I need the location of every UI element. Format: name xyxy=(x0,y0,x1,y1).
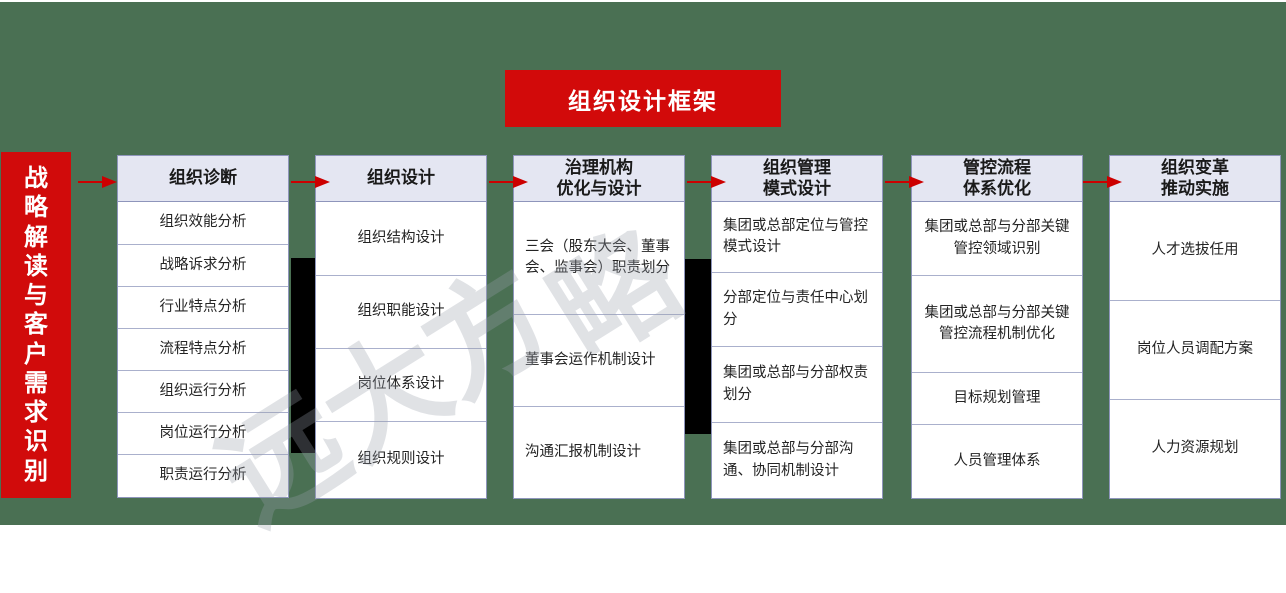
page-title: 组织设计框架 xyxy=(568,82,718,116)
column-header-line-1: 管控流程 xyxy=(963,158,1031,179)
list-item[interactable]: 组织运行分析 xyxy=(118,370,288,412)
diagram-title-banner: 组织设计框架 xyxy=(505,70,781,127)
list-item[interactable]: 职责运行分析 xyxy=(118,454,288,497)
black-connector-block-2 xyxy=(685,259,714,434)
flow-arrow-5 xyxy=(1083,174,1123,190)
left-strategy-bar-label: 战略解读与客户需求识别 xyxy=(21,164,51,486)
column-org-design[interactable]: 组织设计 组织结构设计 组织职能设计 岗位体系设计 组织规则设计 xyxy=(315,155,487,499)
column-body-change-implementation: 人才选拔任用 岗位人员调配方案 人力资源规划 xyxy=(1109,202,1281,499)
column-header-org-diagnosis: 组织诊断 xyxy=(117,155,289,202)
column-body-org-diagnosis: 组织效能分析 战略诉求分析 行业特点分析 流程特点分析 组织运行分析 岗位运行分… xyxy=(117,202,289,498)
list-item[interactable]: 人员管理体系 xyxy=(912,424,1082,498)
diagram-canvas: 远大方 略 组织设计框架 战略解读与客户需求识别 组织诊断 组织效能分析 战略诉… xyxy=(0,0,1286,593)
list-item[interactable]: 分部定位与责任中心划分 xyxy=(712,272,882,346)
list-item[interactable]: 组织效能分析 xyxy=(118,202,288,244)
column-header-label: 组织设计 xyxy=(367,168,435,189)
list-item[interactable]: 战略诉求分析 xyxy=(118,244,288,286)
list-item[interactable]: 集团或总部与分部权责划分 xyxy=(712,346,882,422)
column-org-diagnosis[interactable]: 组织诊断 组织效能分析 战略诉求分析 行业特点分析 流程特点分析 组织运行分析 … xyxy=(117,155,289,498)
column-header-line-2: 体系优化 xyxy=(963,179,1031,200)
column-body-management-mode-design: 集团或总部定位与管控模式设计 分部定位与责任中心划分 集团或总部与分部权责划分 … xyxy=(711,202,883,499)
list-item[interactable]: 组织职能设计 xyxy=(316,275,486,348)
list-item[interactable]: 组织规则设计 xyxy=(316,421,486,498)
list-item[interactable]: 沟通汇报机制设计 xyxy=(514,406,684,498)
column-body-org-design: 组织结构设计 组织职能设计 岗位体系设计 组织规则设计 xyxy=(315,202,487,499)
list-item[interactable]: 集团或总部与分部关键管控领域识别 xyxy=(912,202,1082,275)
list-item[interactable]: 三会（股东大会、董事会、监事会）职责划分 xyxy=(514,202,684,314)
column-management-mode-design[interactable]: 组织管理 模式设计 集团或总部定位与管控模式设计 分部定位与责任中心划分 集团或… xyxy=(711,155,883,499)
column-governance-optimization[interactable]: 治理机构 优化与设计 三会（股东大会、董事会、监事会）职责划分 董事会运作机制设… xyxy=(513,155,685,499)
column-body-governance-optimization: 三会（股东大会、董事会、监事会）职责划分 董事会运作机制设计 沟通汇报机制设计 xyxy=(513,202,685,499)
list-item[interactable]: 董事会运作机制设计 xyxy=(514,314,684,406)
list-item[interactable]: 集团或总部定位与管控模式设计 xyxy=(712,202,882,272)
list-item[interactable]: 集团或总部与分部沟通、协同机制设计 xyxy=(712,422,882,498)
flow-arrow-4 xyxy=(885,174,925,190)
column-header-change-implementation: 组织变革 推动实施 xyxy=(1109,155,1281,202)
list-item[interactable]: 集团或总部与分部关键管控流程机制优化 xyxy=(912,275,1082,372)
flow-arrow-0 xyxy=(78,174,118,190)
column-header-line-1: 治理机构 xyxy=(557,158,642,179)
column-header-line-2: 模式设计 xyxy=(763,179,831,200)
column-header-label: 组织诊断 xyxy=(169,168,237,189)
column-change-implementation[interactable]: 组织变革 推动实施 人才选拔任用 岗位人员调配方案 人力资源规划 xyxy=(1109,155,1281,499)
list-item[interactable]: 组织结构设计 xyxy=(316,202,486,275)
column-header-control-process-optimization: 管控流程 体系优化 xyxy=(911,155,1083,202)
column-header-line-2: 优化与设计 xyxy=(557,179,642,200)
list-item[interactable]: 行业特点分析 xyxy=(118,286,288,328)
column-control-process-optimization[interactable]: 管控流程 体系优化 集团或总部与分部关键管控领域识别 集团或总部与分部关键管控流… xyxy=(911,155,1083,499)
list-item[interactable]: 岗位体系设计 xyxy=(316,348,486,421)
left-strategy-bar: 战略解读与客户需求识别 xyxy=(1,152,71,498)
column-header-line-2: 推动实施 xyxy=(1161,179,1229,200)
list-item[interactable]: 人力资源规划 xyxy=(1110,399,1280,498)
flow-arrow-3 xyxy=(687,174,727,190)
flow-arrow-2 xyxy=(489,174,529,190)
flow-arrow-1 xyxy=(291,174,331,190)
list-item[interactable]: 目标规划管理 xyxy=(912,372,1082,424)
column-header-line-1: 组织变革 xyxy=(1161,158,1229,179)
list-item[interactable]: 岗位运行分析 xyxy=(118,412,288,454)
column-body-control-process-optimization: 集团或总部与分部关键管控领域识别 集团或总部与分部关键管控流程机制优化 目标规划… xyxy=(911,202,1083,499)
column-header-governance-optimization: 治理机构 优化与设计 xyxy=(513,155,685,202)
list-item[interactable]: 流程特点分析 xyxy=(118,328,288,370)
column-header-line-1: 组织管理 xyxy=(763,158,831,179)
column-header-management-mode-design: 组织管理 模式设计 xyxy=(711,155,883,202)
list-item[interactable]: 岗位人员调配方案 xyxy=(1110,300,1280,399)
column-header-org-design: 组织设计 xyxy=(315,155,487,202)
list-item[interactable]: 人才选拔任用 xyxy=(1110,202,1280,300)
